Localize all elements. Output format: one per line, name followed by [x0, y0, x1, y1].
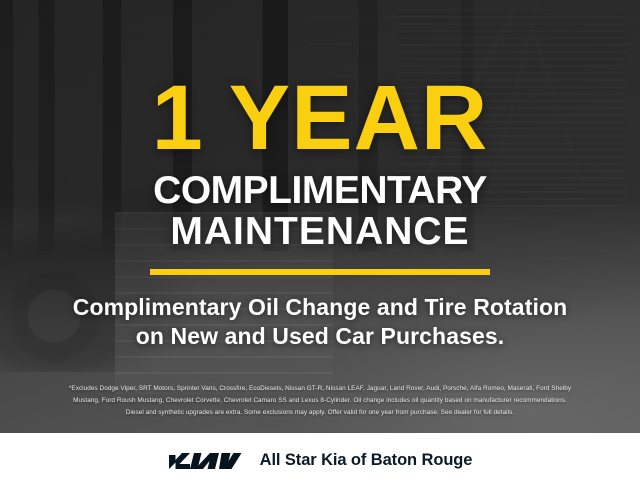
headline-line-complimentary: COMPLIMENTARY [153, 169, 487, 212]
promotional-banner: 1 YEAR COMPLIMENTARY MAINTENANCE Complim… [0, 0, 640, 488]
offer-subheading-line-1: Complimentary Oil Change and Tire Rotati… [73, 294, 568, 320]
disclaimer-text: *Excludes Dodge Viper, SRT Motors, Sprin… [14, 383, 626, 419]
headline-year: 1 YEAR [152, 78, 489, 159]
offer-subheading: Complimentary Oil Change and Tire Rotati… [73, 293, 568, 352]
disclaimer-line-1: *Excludes Dodge Viper, SRT Motors, Sprin… [14, 383, 626, 395]
yellow-divider-rule [150, 269, 490, 275]
offer-subheading-line-2: on New and Used Car Purchases. [73, 322, 568, 351]
banner-content: 1 YEAR COMPLIMENTARY MAINTENANCE Complim… [0, 0, 640, 433]
headline-maintenance: COMPLIMENTARY MAINTENANCE [153, 171, 487, 252]
headline-line-maintenance: MAINTENANCE [153, 212, 487, 253]
disclaimer-line-2: Mustang, Ford Roush Mustang, Chevrolet C… [14, 395, 626, 407]
dealer-name: All Star Kia of Baton Rouge [260, 451, 473, 470]
footer-bar: All Star Kia of Baton Rouge [0, 433, 640, 488]
disclaimer-line-3: Diesel and synthetic upgrades are extra.… [14, 407, 626, 419]
kia-logo [168, 450, 242, 472]
